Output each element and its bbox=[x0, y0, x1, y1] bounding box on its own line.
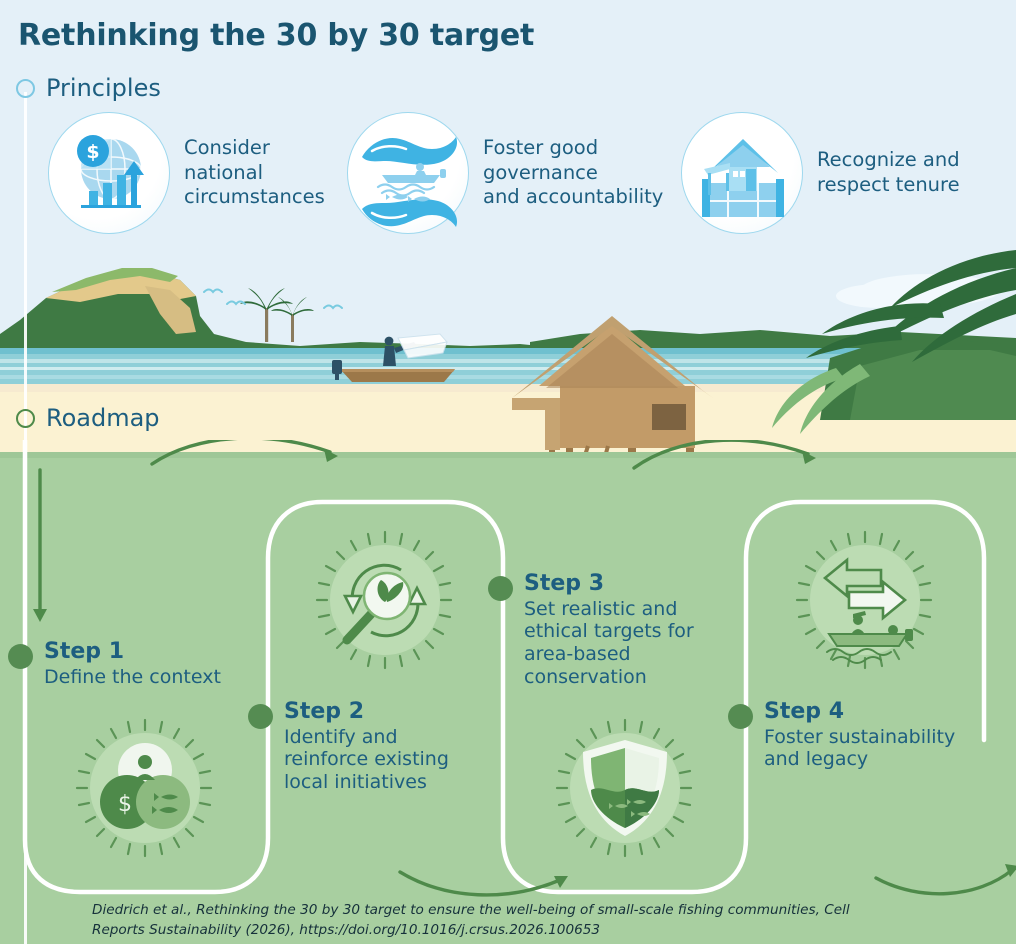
step-description: Identify and reinforce existing local in… bbox=[284, 726, 449, 794]
roadmap-step-1: Step 1 Define the context bbox=[8, 640, 221, 688]
principle-item-respect-tenure: Recognize and respect tenure bbox=[681, 112, 960, 234]
section-label-principles: Principles bbox=[46, 74, 161, 102]
three-interlocking-circles-people-money-fish-icon: $ bbox=[75, 718, 215, 858]
stilt-house-over-water-icon bbox=[681, 112, 803, 234]
principle-text: Recognize and respect tenure bbox=[817, 148, 960, 197]
hands-cradling-boat-fish-icon bbox=[347, 112, 469, 234]
shield-sea-fish-bird-icon bbox=[555, 718, 695, 858]
step-dot-icon bbox=[488, 576, 513, 601]
infographic-canvas: Rethinking the 30 by 30 target Principle… bbox=[0, 0, 1016, 944]
roadmap-step-4: Step 4 Foster sustainability and legacy bbox=[728, 700, 955, 771]
step-description: Define the context bbox=[44, 666, 221, 689]
svg-text:$: $ bbox=[118, 792, 132, 817]
principle-item-good-governance: Foster good governance and accountabilit… bbox=[347, 112, 663, 234]
vertical-spine-line bbox=[24, 92, 27, 944]
section-header-principles: Principles bbox=[16, 74, 161, 102]
step-number: Step 2 bbox=[284, 700, 449, 725]
magnifier-leaves-recycle-arrows-icon bbox=[315, 530, 455, 670]
citation-text: Diedrich et al., Rethinking the 30 by 30… bbox=[92, 900, 898, 941]
step-number: Step 3 bbox=[524, 572, 694, 597]
principle-item-national-circumstances: $ Consider national circumstances bbox=[48, 112, 325, 234]
svg-text:$: $ bbox=[86, 141, 99, 163]
roadmap-step-3: Step 3 Set realistic and ethical targets… bbox=[488, 572, 694, 689]
step-dot-icon bbox=[728, 704, 753, 729]
roadmap-path bbox=[0, 440, 1016, 944]
section-header-roadmap: Roadmap bbox=[16, 404, 160, 432]
section-label-roadmap: Roadmap bbox=[46, 404, 160, 432]
step-dot-icon bbox=[8, 644, 33, 669]
page-title: Rethinking the 30 by 30 target bbox=[18, 18, 534, 53]
principle-text: Consider national circumstances bbox=[184, 136, 325, 210]
step-description: Foster sustainability and legacy bbox=[764, 726, 955, 772]
globe-dollar-growth-chart-icon: $ bbox=[48, 112, 170, 234]
circle-ring-green-icon bbox=[16, 409, 35, 428]
roadmap-step-2: Step 2 Identify and reinforce existing l… bbox=[248, 700, 449, 794]
circle-ring-blue-icon bbox=[16, 79, 35, 98]
step-number: Step 1 bbox=[44, 640, 221, 665]
two-way-arrows-boat-fisher-icon bbox=[795, 530, 935, 670]
step-dot-icon bbox=[248, 704, 273, 729]
principle-text: Foster good governance and accountabilit… bbox=[483, 136, 663, 210]
step-number: Step 4 bbox=[764, 700, 955, 725]
step-description: Set realistic and ethical targets for ar… bbox=[524, 598, 694, 689]
